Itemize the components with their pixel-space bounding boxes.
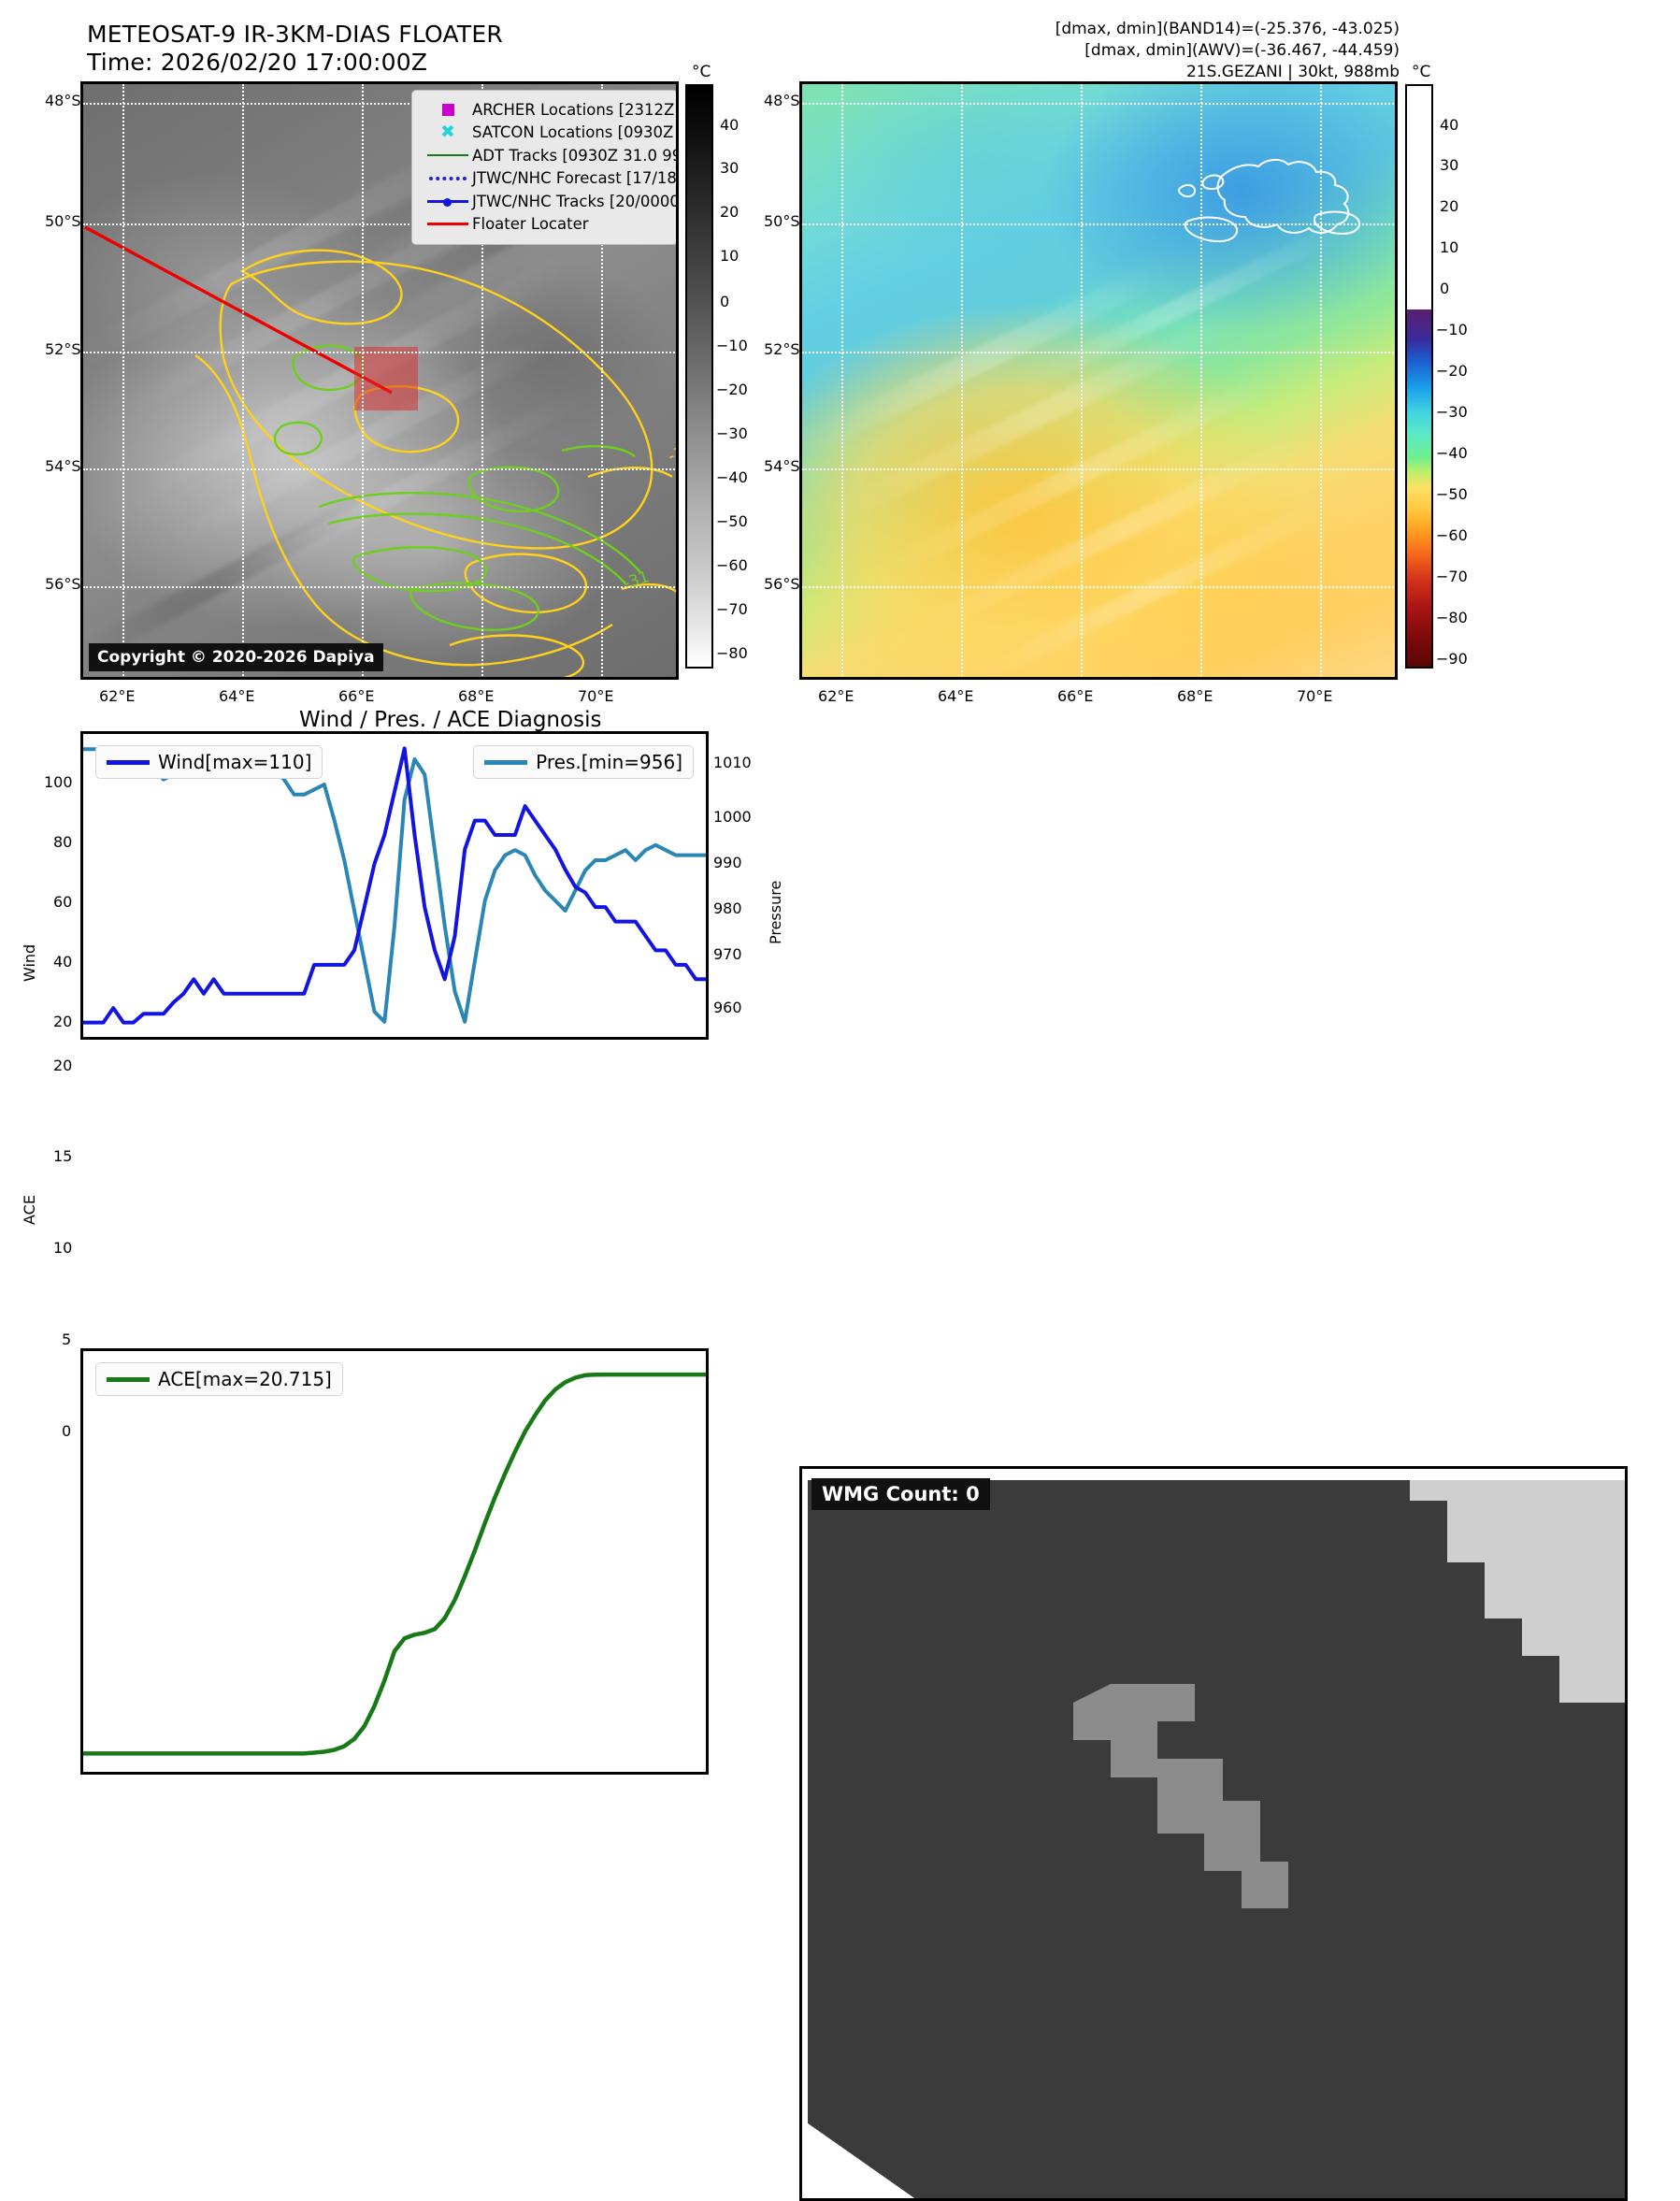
ir-cb-tick-m10: −10 <box>716 337 748 354</box>
awv-cb-tick-m50: −50 <box>1436 485 1468 503</box>
ir-cb-tick-m50: −50 <box>716 512 748 530</box>
awv-header-band14: [dmax, dmin](BAND14)=(-25.376, -43.025) <box>839 19 1400 40</box>
pres-ytick-990: 990 <box>713 854 742 871</box>
pres-ytick-970: 970 <box>713 945 742 963</box>
awv-cb-tick-30: 30 <box>1440 156 1458 174</box>
ir-cb-tick-10: 10 <box>720 247 739 265</box>
awv-xtick-66e: 66°E <box>1057 687 1093 705</box>
awv-cb-tick-m40: −40 <box>1436 444 1468 462</box>
awv-cb-tick-20: 20 <box>1440 197 1458 215</box>
awv-xtick-68e: 68°E <box>1177 687 1213 705</box>
legend-item-floater[interactable]: Floater Locater <box>424 213 666 237</box>
legend-item-adt[interactable]: ADT Tracks [0930Z 31.0 998.6] <box>424 144 666 167</box>
pressure-legend-line-icon <box>484 760 527 765</box>
legend-label-adt: ADT Tracks [0930Z 31.0 998.6] <box>472 147 679 165</box>
awv-ytick-54s: 54°S <box>764 457 800 475</box>
legend-label-floater: Floater Locater <box>472 215 589 233</box>
wind-ytick-40: 40 <box>53 953 72 971</box>
ir-ytick-56s: 56°S <box>45 575 81 593</box>
ace-ytick-20: 20 <box>53 1057 72 1074</box>
ace-plot <box>83 1351 706 1772</box>
satcon-x-icon: ✖ <box>424 123 472 141</box>
awv-cb-tick-m90: −90 <box>1436 650 1468 668</box>
copyright-badge: Copyright © 2020-2026 Dapiya <box>89 643 383 671</box>
awv-xtick-64e: 64°E <box>938 687 973 705</box>
ace-ytick-5: 5 <box>62 1331 71 1348</box>
wmg-coverage-shape <box>802 1469 1625 2198</box>
ir-cb-tick-m60: −60 <box>716 556 748 574</box>
wind-legend-label: Wind[max=110] <box>158 751 311 773</box>
ir-cb-tick-m20: −20 <box>716 381 748 398</box>
pressure-axis-label: Pressure <box>767 881 784 944</box>
legend-item-forecast[interactable]: JTWC/NHC Forecast [17/1800Z] <box>424 167 666 191</box>
wind-ytick-80: 80 <box>53 833 72 851</box>
ir-colorbar <box>685 84 713 669</box>
wind-ytick-20: 20 <box>53 1013 72 1030</box>
ace-chart[interactable]: ACE[max=20.715] <box>80 1348 709 1775</box>
ir-cb-tick-20: 20 <box>720 203 739 221</box>
ir-xtick-64e: 64°E <box>219 687 254 705</box>
awv-colorbar <box>1405 84 1433 669</box>
legend-label-satcon: SATCON Locations [0930Z 44 996] <box>472 123 679 141</box>
awv-cb-tick-m70: −70 <box>1436 568 1468 585</box>
ir-panel-title-line2: Time: 2026/02/20 17:00:00Z <box>87 49 427 76</box>
pres-ytick-980: 980 <box>713 899 742 917</box>
legend-label-archer: ARCHER Locations [2312Z] <box>472 101 679 119</box>
awv-colorbar-unit: °C <box>1412 63 1430 81</box>
ir-panel-title-line1: METEOSAT-9 IR-3KM-DIAS FLOATER <box>87 21 503 48</box>
awv-coastline-overlay <box>802 84 1398 680</box>
awv-cb-tick-10: 10 <box>1440 238 1458 256</box>
pres-ytick-1010: 1010 <box>713 754 752 771</box>
wind-axis-label: Wind <box>21 944 38 982</box>
ace-axis-label: ACE <box>21 1195 38 1225</box>
awv-ytick-48s: 48°S <box>764 92 800 109</box>
wind-pressure-chart[interactable]: Wind[max=110] Pres.[min=956] <box>80 731 709 1040</box>
forecast-dotted-line-icon <box>424 177 472 180</box>
ir-cb-tick-m80: −80 <box>716 644 748 662</box>
wind-legend[interactable]: Wind[max=110] <box>95 745 323 779</box>
floater-box[interactable] <box>354 347 418 410</box>
wind-ytick-60: 60 <box>53 893 72 911</box>
awv-cb-tick-0: 0 <box>1440 280 1449 297</box>
wind-ytick-100: 100 <box>44 773 73 791</box>
legend-item-tracks[interactable]: JTWC/NHC Tracks [20/0000Z] <box>424 190 666 213</box>
ir-xtick-70e: 70°E <box>578 687 613 705</box>
ir-ytick-50s: 50°S <box>45 212 81 230</box>
awv-cb-tick-m30: −30 <box>1436 403 1468 421</box>
ir-xtick-62e: 62°E <box>99 687 135 705</box>
ace-legend-line-icon <box>107 1377 150 1382</box>
ir-cb-tick-40: 40 <box>720 116 739 134</box>
awv-ytick-50s: 50°S <box>764 212 800 230</box>
awv-xtick-70e: 70°E <box>1297 687 1332 705</box>
ace-ytick-0: 0 <box>62 1422 71 1440</box>
awv-cb-tick-m60: −60 <box>1436 526 1468 544</box>
diagnosis-title: Wind / Pres. / ACE Diagnosis <box>299 708 601 732</box>
floater-line-icon <box>424 223 472 225</box>
ace-ytick-15: 15 <box>53 1147 72 1165</box>
ir-cb-tick-0: 0 <box>720 293 729 310</box>
legend-item-archer[interactable]: ARCHER Locations [2312Z] <box>424 98 666 122</box>
ir-ytick-48s: 48°S <box>45 92 81 109</box>
legend-item-satcon[interactable]: ✖ SATCON Locations [0930Z 44 996] <box>424 122 666 145</box>
wind-legend-line-icon <box>107 760 150 765</box>
ir-cb-tick-m70: −70 <box>716 600 748 618</box>
wmg-panel[interactable]: WMG Count: 0 <box>799 1466 1628 2201</box>
awv-cb-tick-40: 40 <box>1440 116 1458 134</box>
awv-ytick-52s: 52°S <box>764 340 800 358</box>
ir-map-legend[interactable]: ARCHER Locations [2312Z] ✖ SATCON Locati… <box>411 90 678 245</box>
ace-legend[interactable]: ACE[max=20.715] <box>95 1362 343 1396</box>
legend-label-forecast: JTWC/NHC Forecast [17/1800Z] <box>472 169 679 187</box>
ir-ytick-52s: 52°S <box>45 340 81 358</box>
pres-ytick-1000: 1000 <box>713 808 752 826</box>
awv-ytick-56s: 56°S <box>764 575 800 593</box>
ir-ytick-54s: 54°S <box>45 457 81 475</box>
awv-xtick-62e: 62°E <box>818 687 854 705</box>
wind-pressure-plot <box>83 734 706 1037</box>
awv-cb-tick-m20: −20 <box>1436 362 1468 380</box>
ir-cb-tick-m30: −30 <box>716 424 748 442</box>
ir-cb-tick-30: 30 <box>720 159 739 177</box>
tracks-line-icon <box>424 200 472 203</box>
legend-label-tracks: JTWC/NHC Tracks [20/0000Z] <box>472 193 679 210</box>
adt-line-icon <box>424 154 472 156</box>
ir-xtick-68e: 68°E <box>458 687 494 705</box>
ir-xtick-66e: 66°E <box>338 687 374 705</box>
ir-satellite-map[interactable]: © EUMETSAT 2026 -31 -31 <box>80 81 679 680</box>
awv-header-storm: 21S.GEZANI | 30kt, 988mb <box>839 62 1400 83</box>
pressure-legend[interactable]: Pres.[min=956] <box>473 745 694 779</box>
awv-header-awv: [dmax, dmin](AWV)=(-36.467, -44.459) <box>839 40 1400 62</box>
wmg-count-badge: WMG Count: 0 <box>811 1478 990 1510</box>
awv-cb-tick-m10: −10 <box>1436 321 1468 338</box>
pres-ytick-960: 960 <box>713 999 742 1016</box>
ir-cb-tick-m40: −40 <box>716 468 748 486</box>
awv-satellite-map[interactable] <box>799 81 1398 680</box>
ir-colorbar-unit: °C <box>692 63 711 81</box>
archer-square-icon <box>424 104 472 116</box>
pressure-legend-label: Pres.[min=956] <box>536 751 682 773</box>
ace-ytick-10: 10 <box>53 1239 72 1257</box>
ace-legend-label: ACE[max=20.715] <box>158 1368 332 1390</box>
awv-cb-tick-m80: −80 <box>1436 609 1468 626</box>
